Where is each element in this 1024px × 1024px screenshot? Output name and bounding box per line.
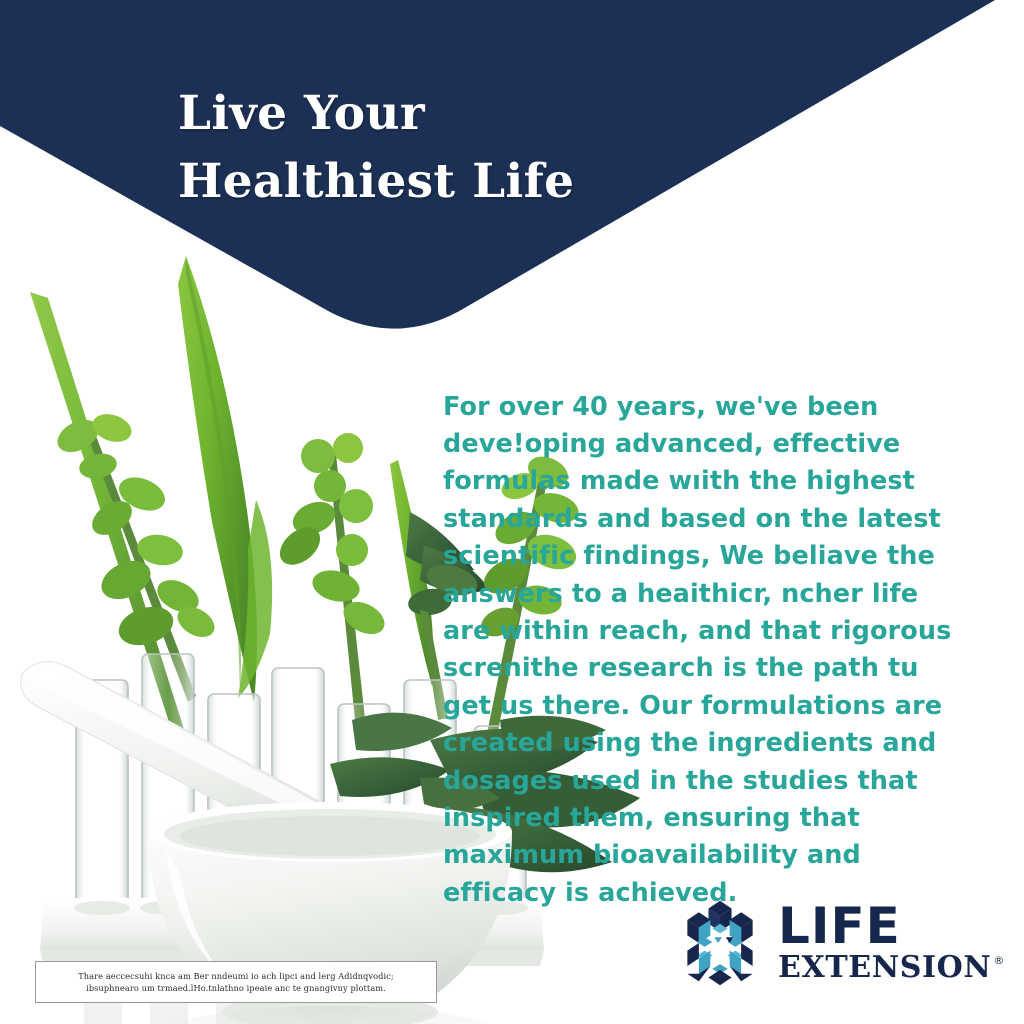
headline-line-2: Healthiest Life	[178, 154, 574, 209]
hexagon-lattice-icon	[672, 895, 768, 991]
disclaimer-line-1: Thare aeccecsuhi knca am Ber nndeumi io …	[78, 970, 393, 982]
logo-life-text: LIFE	[778, 902, 1004, 950]
logo-mark-shapes	[687, 901, 752, 985]
body-paragraph: For over 40 years, we've been deve!oping…	[443, 389, 963, 913]
logo-extension-text: EXTENSION	[778, 952, 991, 984]
disclaimer-line-2: ibsuphnearo um trmaed.lHo.tnlathno ipeai…	[86, 982, 386, 994]
registered-trademark-icon: ®	[993, 954, 1004, 968]
logo-wordmark: LIFE EXTENSION ®	[778, 902, 1004, 984]
headline-line-1: Live Your	[178, 86, 425, 141]
page-title: Live Your Healthiest Life	[178, 80, 574, 216]
logo-extension-row: EXTENSION ®	[778, 952, 1004, 984]
sprig-left	[52, 409, 220, 702]
poster-canvas: Live Your Healthiest Life	[0, 0, 1024, 1024]
disclaimer-box: Thare aeccecsuhi knca am Ber nndeumi io …	[35, 961, 437, 1003]
brand-logo[interactable]: LIFE EXTENSION ®	[672, 893, 1004, 993]
